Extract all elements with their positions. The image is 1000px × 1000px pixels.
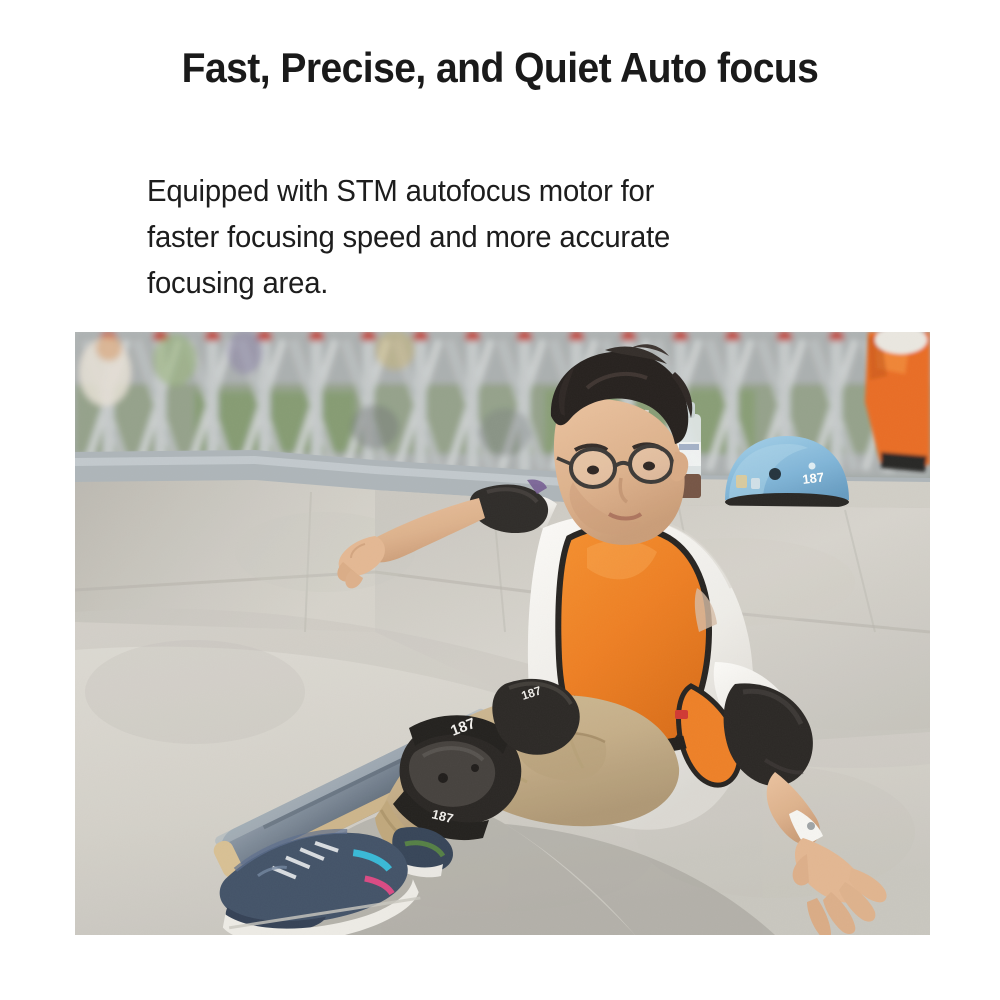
description-line-3: focusing area. [147, 260, 819, 306]
description-line-2: faster focusing speed and more accurate [147, 214, 819, 260]
sample-photo: 187 [75, 332, 930, 935]
svg-text:187: 187 [802, 469, 825, 487]
description-line-1: Equipped with STM autofocus motor for [147, 168, 819, 214]
page-root: Fast, Precise, and Quiet Auto focus Equi… [0, 0, 1000, 1000]
skatepark-photo-illustration: 187 [75, 332, 930, 935]
head [551, 344, 692, 545]
page-title: Fast, Precise, and Quiet Auto focus [35, 42, 965, 94]
description-text: Equipped with STM autofocus motor for fa… [147, 168, 819, 306]
